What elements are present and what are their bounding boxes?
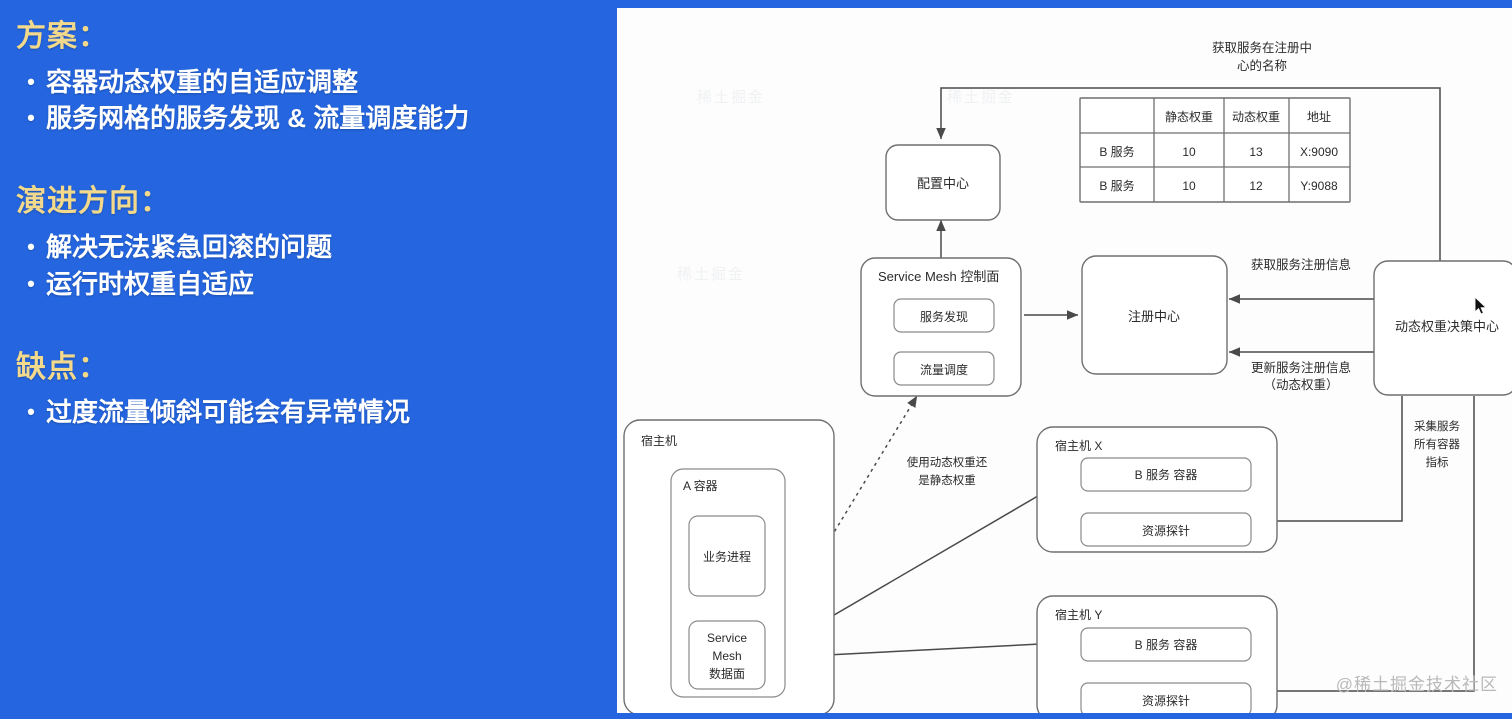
- spacer: [16, 386, 592, 394]
- bullet-dot-icon: •: [16, 64, 46, 99]
- node-traffic-schedule-label: 流量调度: [920, 362, 968, 377]
- bullet-label: 容器动态权重的自适应调整: [46, 64, 592, 101]
- weight-table-cell: Y:9088: [1300, 179, 1338, 193]
- diagram-canvas: 获取服务在注册中 心的名称 获取服务注册信息 更新服务注册信息 （动态权重） 采…: [617, 8, 1512, 713]
- node-business-process-label: 业务进程: [703, 549, 751, 564]
- node-service-discovery-label: 服务发现: [920, 309, 968, 324]
- node-service-mesh-control-label: Service Mesh 控制面: [878, 269, 999, 284]
- weight-table-cell: B 服务: [1099, 144, 1134, 159]
- edge-label-weight-choice-line1: 使用动态权重还: [907, 455, 988, 469]
- weight-table-cell: 10: [1182, 179, 1196, 193]
- bullet-item: • 过度流量倾斜可能会有异常情况: [16, 394, 592, 431]
- node-host-x-probe-label: 资源探针: [1142, 523, 1190, 538]
- node-host-y-label: 宿主机 Y: [1055, 607, 1102, 622]
- spacer: [16, 137, 592, 183]
- edge-label-collect-metrics-line1: 采集服务: [1414, 419, 1460, 433]
- bullet-label: 服务网格的服务发现 & 流量调度能力: [46, 100, 592, 137]
- bullet-item: • 解决无法紧急回滚的问题: [16, 229, 592, 266]
- node-mesh-dataplane-label-line3: 数据面: [709, 666, 745, 681]
- watermark-label: @稀土掘金技术社区: [1336, 670, 1498, 695]
- spacer: [16, 221, 592, 229]
- edge-decision-to-hostx-probe: [1257, 396, 1402, 521]
- slide-panel: 方案： • 容器动态权重的自适应调整 • 服务网格的服务发现 & 流量调度能力 …: [0, 0, 614, 719]
- bullet-item: • 运行时权重自适应: [16, 266, 592, 303]
- weight-table-header-cell-dynamic-weight: 动态权重: [1232, 110, 1280, 124]
- bullet-dot-icon: •: [16, 394, 46, 429]
- spacer: [16, 56, 592, 64]
- weight-table-cell: B 服务: [1099, 178, 1134, 193]
- edge-label-update-registry-line2: （动态权重）: [1263, 377, 1338, 392]
- edge-label-get-service-name-line1: 获取服务在注册中: [1212, 40, 1312, 55]
- edge-label-get-registry-info: 获取服务注册信息: [1251, 257, 1351, 272]
- weight-table-header-cell: 地址: [1307, 110, 1331, 124]
- node-config-center-label: 配置中心: [917, 176, 969, 191]
- edge-label-update-registry-line1: 更新服务注册信息: [1251, 360, 1351, 375]
- edge-label-weight-choice-line2: 是静态权重: [918, 473, 976, 487]
- bullet-item: • 服务网格的服务发现 & 流量调度能力: [16, 100, 592, 137]
- node-mesh-dataplane-label-line1: Service: [707, 631, 747, 645]
- weight-table[interactable]: 静态权重 动态权重 地址 B 服务 10 13 X:9090 B 服务 10 1…: [1080, 98, 1350, 202]
- bullet-label: 解决无法紧急回滚的问题: [46, 229, 592, 266]
- node-host-x-container-label: B 服务 容器: [1135, 467, 1198, 482]
- node-mesh-dataplane-label-line2: Mesh: [712, 649, 741, 663]
- bullet-item: • 容器动态权重的自适应调整: [16, 64, 592, 101]
- edge-label-collect-metrics-line3: 指标: [1426, 455, 1449, 469]
- section-heading-plan: 方案：: [16, 18, 592, 56]
- node-host-label: 宿主机: [641, 433, 677, 448]
- node-weight-decision-center-label: 动态权重决策中心: [1395, 319, 1499, 334]
- node-host-y-probe-label: 资源探针: [1142, 693, 1190, 708]
- section-heading-drawback: 缺点：: [16, 349, 592, 387]
- weight-table-cell: 10: [1182, 145, 1196, 159]
- weight-table-cell-dynamic-weight: 12: [1249, 179, 1263, 193]
- spacer: [16, 303, 592, 349]
- node-registry-center-label: 注册中心: [1128, 309, 1180, 324]
- bullet-label: 过度流量倾斜可能会有异常情况: [46, 394, 592, 431]
- bullet-dot-icon: •: [16, 229, 46, 264]
- node-host-x-label: 宿主机 X: [1055, 438, 1102, 453]
- node-container-a-label: A 容器: [683, 478, 718, 493]
- bullet-label: 运行时权重自适应: [46, 266, 592, 303]
- architecture-diagram-panel: 稀土掘金 稀土掘金 稀土掘金 稀土掘金 稀土掘金 稀土掘金 稀土掘金: [617, 8, 1512, 713]
- node-host-y-container-label: B 服务 容器: [1135, 637, 1198, 652]
- section-heading-roadmap: 演进方向：: [16, 183, 592, 221]
- edge-label-collect-metrics-line2: 所有容器: [1414, 437, 1460, 451]
- weight-table-cell: X:9090: [1300, 145, 1338, 159]
- edge-label-get-service-name-line2: 心的名称: [1237, 58, 1287, 73]
- weight-table-header-cell: 静态权重: [1165, 110, 1213, 124]
- weight-table-cell-dynamic-weight: 13: [1249, 145, 1263, 159]
- bullet-dot-icon: •: [16, 266, 46, 301]
- bullet-dot-icon: •: [16, 100, 46, 135]
- screenshot-root: 方案： • 容器动态权重的自适应调整 • 服务网格的服务发现 & 流量调度能力 …: [0, 0, 1512, 719]
